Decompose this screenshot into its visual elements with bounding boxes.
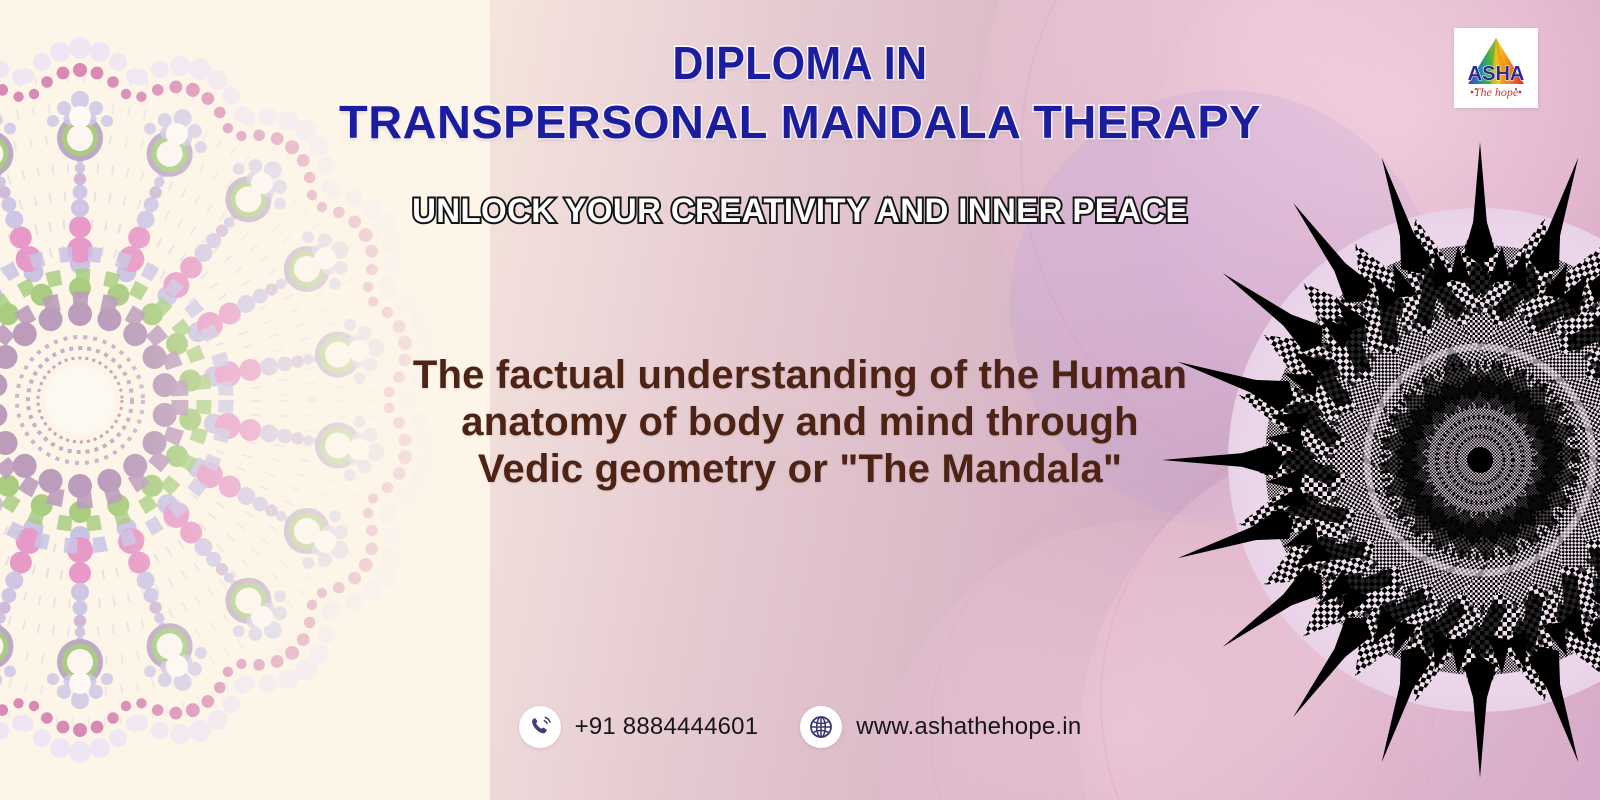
contact-phone[interactable]: +91 8884444601 [519,706,759,748]
headline-line-2: TRANSPERSONAL MANDALA THERAPY [0,99,1600,146]
phone-number: +91 8884444601 [575,713,759,741]
globe-icon [800,706,842,748]
asha-logo-tagline: The hope [1474,85,1519,99]
body-line-3: Vedic geometry or "The Mandala" [0,446,1600,493]
asha-logo-graphic: ASHA The hope [1454,28,1538,108]
headline-line-1: DIPLOMA IN [56,40,1544,87]
website-url: www.ashathehope.in [856,713,1081,741]
contact-bar: +91 8884444601 www.ashathehope.in [0,706,1600,748]
body-copy: The factual understanding of the Human a… [0,352,1600,494]
background-circle-outline [930,480,1434,800]
subtitle: UNLOCK YOUR CREATIVITY AND INNER PEACE [24,192,1576,231]
background-circle [880,520,1420,800]
asha-logo-word: ASHA [1468,63,1525,85]
page-title: DIPLOMA IN TRANSPERSONAL MANDALA THERAPY [0,40,1600,146]
phone-ringing-icon [519,706,561,748]
promotional-banner: DIPLOMA IN TRANSPERSONAL MANDALA THERAPY… [0,0,1600,800]
body-line-2: anatomy of body and mind through [0,399,1600,446]
asha-logo[interactable]: ASHA The hope [1454,28,1538,108]
contact-website[interactable]: www.ashathehope.in [800,706,1081,748]
body-line-1: The factual understanding of the Human [0,352,1600,399]
